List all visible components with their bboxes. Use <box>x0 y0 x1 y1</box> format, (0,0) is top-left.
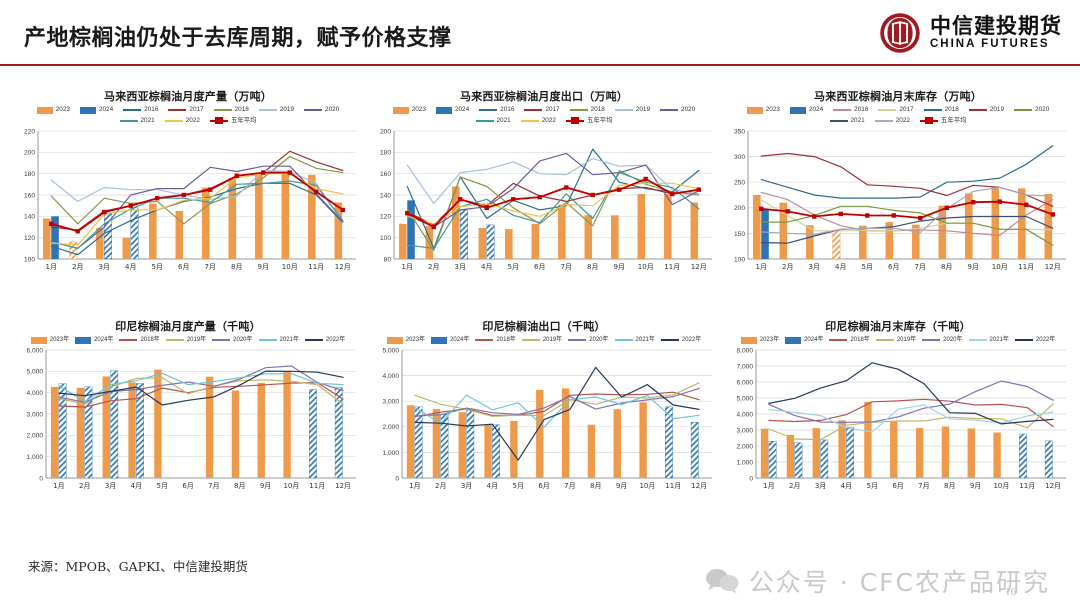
x-tick-5月: 5月 <box>862 263 873 271</box>
legend-swatch <box>790 107 806 114</box>
legend-swatch <box>119 339 137 341</box>
svg-text:4,000: 4,000 <box>26 390 43 397</box>
legend-label: 2022年 <box>1036 336 1055 344</box>
chart-svg: 01,0002,0003,0004,0005,0006,0007,0008,00… <box>722 344 1074 494</box>
legend-item-2018: 2018 <box>570 106 605 115</box>
svg-text:220: 220 <box>24 129 35 136</box>
svg-text:0: 0 <box>749 475 753 482</box>
bar-2023-1月 <box>399 224 407 259</box>
marker-五年平均 <box>918 216 922 220</box>
x-tick-5月: 5月 <box>157 482 168 490</box>
chart-title: 印尼棕榈油月末库存（千吨） <box>722 318 1074 334</box>
svg-text:100: 100 <box>24 257 35 264</box>
legend-label: 2021 <box>851 117 865 126</box>
line-2019 <box>761 154 1053 207</box>
x-tick-11月: 11月 <box>1019 482 1035 490</box>
x-tick-2月: 2月 <box>435 482 446 490</box>
header-divider <box>0 64 1080 66</box>
legend-label: 2021 <box>141 117 155 126</box>
bar-2023年-10月 <box>993 433 1000 478</box>
legend-swatch <box>479 109 497 111</box>
bar-2023-5月 <box>505 229 513 259</box>
marker-五年平均 <box>538 195 542 199</box>
bar-hatched-12月 <box>691 422 698 478</box>
marker-五年平均 <box>405 211 409 215</box>
chart-svg: 1001201401601802002201月2月3月4月5月6月7月8月9月1… <box>12 125 364 275</box>
bar-hatched-2月 <box>795 443 802 478</box>
x-tick-9月: 9月 <box>968 263 979 271</box>
chart-plot: 1001201401601802002201月2月3月4月5月6月7月8月9月1… <box>12 125 364 275</box>
legend-label: 2022 <box>542 117 556 126</box>
bar-2023-11月 <box>664 194 672 259</box>
svg-text:5,000: 5,000 <box>26 369 43 376</box>
x-tick-4月: 4月 <box>487 482 498 490</box>
marker-五年平均 <box>235 174 239 178</box>
legend-item-2022: 2022 <box>875 117 910 126</box>
legend-label: 2024 <box>809 106 823 115</box>
x-tick-1月: 1月 <box>46 263 57 271</box>
bar-hatched-1月 <box>769 441 776 478</box>
legend-swatch <box>924 109 942 111</box>
svg-text:2,000: 2,000 <box>736 443 753 450</box>
legend-label: 2017 <box>899 106 913 115</box>
legend-item-2024: 2024 <box>436 106 469 115</box>
legend-item-2021年: 2021年 <box>259 336 299 344</box>
legend-swatch <box>304 109 322 111</box>
x-tick-1月: 1月 <box>402 263 413 271</box>
legend-swatch <box>615 339 633 341</box>
legend-swatch <box>833 109 851 111</box>
bar-2023年-3月 <box>459 412 466 478</box>
x-tick-9月: 9月 <box>260 482 271 490</box>
chart-plot: 01,0002,0003,0004,0005,0006,0007,0008,00… <box>722 344 1074 494</box>
legend-swatch <box>165 120 183 122</box>
line-2020年 <box>415 388 699 416</box>
page-number: 16 <box>1005 586 1016 598</box>
x-tick-1月: 1月 <box>756 263 767 271</box>
marker-五年平均 <box>865 214 869 218</box>
bar-2024-1月 <box>407 201 415 260</box>
legend-item-2023年: 2023年 <box>741 336 779 344</box>
legend-swatch <box>615 109 633 111</box>
legend-item-2018年: 2018年 <box>119 336 159 344</box>
x-tick-7月: 7月 <box>561 263 572 271</box>
svg-text:0: 0 <box>39 475 43 482</box>
legend-item-2024年: 2024年 <box>431 336 469 344</box>
legend-item-2018年: 2018年 <box>829 336 869 344</box>
marker-五年平均 <box>288 171 292 175</box>
x-tick-12月: 12月 <box>335 482 351 490</box>
page-header: 产地棕榈油仍处于去库周期，赋予价格支撑 中信建投期货 CHINA FUTURES <box>0 0 1080 66</box>
chart-title: 印尼棕榈油月度产量（千吨） <box>12 318 364 334</box>
legend-swatch <box>524 109 542 111</box>
legend-label: 2019 <box>280 106 294 115</box>
x-tick-7月: 7月 <box>208 482 219 490</box>
legend-label: 2024 <box>455 106 469 115</box>
x-tick-1月: 1月 <box>53 482 64 490</box>
legend-label: 2024 <box>99 106 113 115</box>
chart-title: 马来西亚棕榈油月度产量（万吨） <box>12 88 364 104</box>
x-tick-12月: 12月 <box>1045 263 1061 271</box>
bar-2024-1月 <box>761 209 769 259</box>
x-tick-4月: 4月 <box>481 263 492 271</box>
line-2019年 <box>415 383 699 417</box>
legend-label: 2023 <box>766 106 780 115</box>
marker-五年平均 <box>155 196 159 200</box>
legend-swatch <box>660 109 678 111</box>
citic-logo-icon <box>879 12 921 54</box>
line-2021年 <box>769 405 1053 432</box>
svg-text:120: 120 <box>380 214 391 221</box>
marker-五年平均 <box>314 190 318 194</box>
legend-swatch <box>393 107 409 114</box>
bar-hatched-3月 <box>460 210 468 259</box>
legend-label: 2016 <box>854 106 868 115</box>
legend-item-2016: 2016 <box>833 106 868 115</box>
line-2019 <box>407 159 699 204</box>
logo-chinese-name: 中信建投期货 <box>930 15 1062 36</box>
x-tick-4月: 4月 <box>841 482 852 490</box>
legend-label: 2020年 <box>589 336 608 344</box>
bar-2023年-6月 <box>890 421 897 478</box>
marker-五年平均 <box>564 186 568 190</box>
logo-text: 中信建投期货 CHINA FUTURES <box>930 15 1062 51</box>
legend-label: 2020 <box>1035 106 1049 115</box>
legend-label: 2018年 <box>850 336 869 344</box>
bar-hatched-3月 <box>467 409 474 478</box>
legend-item-2022年: 2022年 <box>661 336 701 344</box>
line-五年平均 <box>51 173 343 232</box>
bar-2023-10月 <box>282 173 290 259</box>
x-tick-8月: 8月 <box>587 263 598 271</box>
x-tick-8月: 8月 <box>941 263 952 271</box>
svg-text:180: 180 <box>380 150 391 157</box>
x-tick-6月: 6月 <box>178 263 189 271</box>
legend-item-2017: 2017 <box>168 106 203 115</box>
legend-item-2023: 2023 <box>393 106 426 115</box>
svg-text:2,000: 2,000 <box>382 424 399 431</box>
x-tick-2月: 2月 <box>72 263 83 271</box>
bar-2023-10月 <box>992 187 1000 259</box>
legend-label: 2022 <box>896 117 910 126</box>
x-tick-6月: 6月 <box>182 482 193 490</box>
chart-title: 马来西亚棕榈油月末库存（万吨） <box>722 88 1074 104</box>
legend-item-2021: 2021 <box>830 117 865 126</box>
bar-2023-12月 <box>691 203 699 260</box>
x-tick-5月: 5月 <box>508 263 519 271</box>
svg-text:350: 350 <box>734 129 745 136</box>
legend-swatch <box>568 339 586 341</box>
x-tick-6月: 6月 <box>534 263 545 271</box>
legend-label: 2021年 <box>280 336 299 344</box>
charts-grid: 马来西亚棕榈油月度产量（万吨） 202320242016201720182019… <box>0 78 1080 548</box>
legend-label: 2021年 <box>990 336 1009 344</box>
svg-text:2,000: 2,000 <box>26 433 43 440</box>
x-tick-4月: 4月 <box>131 482 142 490</box>
x-tick-5月: 5月 <box>867 482 878 490</box>
marker-五年平均 <box>129 204 133 208</box>
bar-2023-10月 <box>638 194 646 259</box>
line-2020年 <box>769 381 1053 422</box>
legend-label: 2019年 <box>187 336 206 344</box>
legend-swatch <box>120 120 138 122</box>
legend-swatch <box>969 109 987 111</box>
legend-swatch <box>920 117 938 125</box>
legend-label: 2023年 <box>760 336 779 344</box>
x-tick-2月: 2月 <box>782 263 793 271</box>
x-tick-8月: 8月 <box>231 263 242 271</box>
source-note: 来源：MPOB、GAPKI、中信建投期货 <box>28 556 248 575</box>
logo-english-name: CHINA FUTURES <box>930 39 1062 51</box>
bar-hatched-4月 <box>846 427 853 478</box>
line-2022 <box>761 188 1053 235</box>
bar-hatched-11月 <box>309 390 316 479</box>
x-tick-12月: 12月 <box>1045 482 1061 490</box>
x-tick-8月: 8月 <box>590 482 601 490</box>
legend-label: 2020年 <box>233 336 252 344</box>
legend-item-2020年: 2020年 <box>212 336 252 344</box>
legend-item-2019: 2019 <box>615 106 650 115</box>
legend-label: 2017 <box>189 106 203 115</box>
legend-item-2023: 2023 <box>37 106 70 115</box>
chart-legend: 2023年2024年2018年2019年2020年2021年2022年 <box>12 336 364 344</box>
chart-my-export: 马来西亚棕榈油月度出口（万吨） 202320242016201720182019… <box>368 88 720 320</box>
legend-swatch <box>259 109 277 111</box>
x-tick-8月: 8月 <box>944 482 955 490</box>
x-tick-10月: 10月 <box>993 482 1009 490</box>
x-tick-6月: 6月 <box>888 263 899 271</box>
legend-label: 2018 <box>591 106 605 115</box>
chart-plot: 1001502002503003501月2月3月4月5月6月7月8月9月10月1… <box>722 125 1074 275</box>
chart-plot: 01,0002,0003,0004,0005,0001月2月3月4月5月6月7月… <box>368 344 720 494</box>
x-tick-7月: 7月 <box>205 263 216 271</box>
bar-2023-1月 <box>753 195 761 259</box>
bar-2023年-10月 <box>639 402 646 478</box>
marker-五年平均 <box>458 197 462 201</box>
x-tick-3月: 3月 <box>99 263 110 271</box>
legend-swatch <box>878 109 896 111</box>
x-tick-7月: 7月 <box>915 263 926 271</box>
bar-2023年-8月 <box>232 391 239 478</box>
legend-swatch <box>210 117 228 125</box>
legend-label: 2016 <box>144 106 158 115</box>
svg-text:100: 100 <box>380 235 391 242</box>
legend-label: 五年平均 <box>231 117 257 126</box>
marker-五年平均 <box>591 193 595 197</box>
marker-五年平均 <box>485 206 489 210</box>
bar-2023年-5月 <box>864 402 871 478</box>
x-tick-4月: 4月 <box>125 263 136 271</box>
legend-swatch <box>830 120 848 122</box>
chart-id-stock: 印尼棕榈油月末库存（千吨） 2023年2024年2018年2019年2020年2… <box>722 318 1074 550</box>
legend-item-2024年: 2024年 <box>75 336 113 344</box>
legend-item-2021: 2021 <box>476 117 511 126</box>
legend-item-2024: 2024 <box>790 106 823 115</box>
chart-svg: 801001201401601802001月2月3月4月5月6月7月8月9月10… <box>368 125 720 275</box>
svg-text:5,000: 5,000 <box>382 347 399 354</box>
legend-item-2019年: 2019年 <box>522 336 562 344</box>
x-tick-7月: 7月 <box>564 482 575 490</box>
bar-2023年-9月 <box>258 383 265 478</box>
marker-五年平均 <box>945 206 949 210</box>
bar-2023年-2月 <box>787 435 794 478</box>
legend-swatch <box>475 339 493 341</box>
bar-hatched-4月 <box>487 225 495 259</box>
legend-item-2020: 2020 <box>304 106 339 115</box>
svg-text:120: 120 <box>24 235 35 242</box>
chart-plot: 01,0002,0003,0004,0005,0006,0001月2月3月4月5… <box>12 344 364 494</box>
x-tick-12月: 12月 <box>335 263 351 271</box>
x-tick-10月: 10月 <box>992 263 1008 271</box>
legend-item-2018年: 2018年 <box>475 336 515 344</box>
legend-label: 2019年 <box>897 336 916 344</box>
svg-text:200: 200 <box>24 150 35 157</box>
bar-2023年-7月 <box>206 377 213 478</box>
legend-item-2022年: 2022年 <box>305 336 345 344</box>
x-tick-2月: 2月 <box>428 263 439 271</box>
legend-swatch <box>75 337 91 344</box>
legend-item-2016: 2016 <box>123 106 158 115</box>
svg-text:3,000: 3,000 <box>736 427 753 434</box>
svg-text:1,000: 1,000 <box>26 454 43 461</box>
legend-item-2020: 2020 <box>1014 106 1049 115</box>
bar-2023-4月 <box>123 238 131 259</box>
svg-text:6,000: 6,000 <box>736 379 753 386</box>
bar-2023年-4月 <box>128 383 135 479</box>
wechat-account: 公众号 · CFC农产品研究 <box>705 563 1050 599</box>
marker-五年平均 <box>998 200 1002 204</box>
bar-hatched-4月 <box>833 231 841 260</box>
legend-swatch <box>80 107 96 114</box>
bar-2023年-10月 <box>283 372 290 478</box>
legend-label: 2024年 <box>450 336 469 344</box>
legend-item-2024年: 2024年 <box>785 336 823 344</box>
legend-item-2021年: 2021年 <box>615 336 655 344</box>
legend-label: 2022年 <box>682 336 701 344</box>
x-tick-3月: 3月 <box>815 482 826 490</box>
legend-label: 2019 <box>636 106 650 115</box>
legend-swatch <box>212 339 230 341</box>
bar-hatched-12月 <box>1045 441 1052 478</box>
legend-label: 2016 <box>500 106 514 115</box>
legend-item-2020年: 2020年 <box>568 336 608 344</box>
legend-swatch <box>436 107 452 114</box>
chart-title: 印尼棕榈油出口（千吨） <box>368 318 720 334</box>
svg-text:3,000: 3,000 <box>382 399 399 406</box>
legend-swatch <box>522 339 540 341</box>
svg-text:180: 180 <box>24 171 35 178</box>
svg-text:7,000: 7,000 <box>736 363 753 370</box>
chart-my-stock: 马来西亚棕榈油月末库存（万吨） 202320242016201720182019… <box>722 88 1074 320</box>
x-tick-3月: 3月 <box>809 263 820 271</box>
legend-swatch <box>969 339 987 341</box>
legend-item-五年平均: 五年平均 <box>210 117 257 126</box>
chart-legend: 202320242016201720182019202020212022五年平均 <box>722 106 1074 125</box>
legend-item-2022: 2022 <box>165 117 200 126</box>
chart-legend: 2023年2024年2018年2019年2020年2021年2022年 <box>368 336 720 344</box>
bar-2023年-5月 <box>510 421 517 478</box>
line-2018 <box>51 157 343 224</box>
bar-2023年-8月 <box>942 427 949 479</box>
legend-label: 五年平均 <box>587 117 613 126</box>
legend-swatch <box>829 339 847 341</box>
legend-label: 2018年 <box>496 336 515 344</box>
bar-2023-6月 <box>532 224 540 259</box>
legend-swatch <box>661 339 679 341</box>
x-tick-10月: 10月 <box>639 482 655 490</box>
legend-label: 2020 <box>325 106 339 115</box>
svg-text:5,000: 5,000 <box>736 395 753 402</box>
svg-text:150: 150 <box>734 231 745 238</box>
bar-2023-4月 <box>479 228 487 259</box>
x-tick-11月: 11月 <box>1018 263 1034 271</box>
x-tick-12月: 12月 <box>691 482 707 490</box>
legend-label: 2019年 <box>543 336 562 344</box>
legend-item-2020: 2020 <box>660 106 695 115</box>
chart-svg: 01,0002,0003,0004,0005,0006,0001月2月3月4月5… <box>12 344 364 494</box>
x-tick-3月: 3月 <box>455 263 466 271</box>
legend-swatch <box>876 339 894 341</box>
bar-hatched-11月 <box>1019 434 1026 478</box>
legend-item-2017: 2017 <box>524 106 559 115</box>
marker-五年平均 <box>644 177 648 181</box>
legend-swatch <box>741 337 757 344</box>
legend-label: 2024年 <box>804 336 823 344</box>
line-2021年 <box>59 373 343 402</box>
svg-text:3,000: 3,000 <box>26 411 43 418</box>
bar-2023年-1月 <box>51 387 58 478</box>
chart-id-export: 印尼棕榈油出口（千吨） 2023年2024年2018年2019年2020年202… <box>368 318 720 550</box>
legend-swatch <box>1014 109 1032 111</box>
legend-label: 2020年 <box>943 336 962 344</box>
x-tick-9月: 9月 <box>258 263 269 271</box>
x-tick-5月: 5月 <box>152 263 163 271</box>
legend-swatch <box>214 109 232 111</box>
chart-legend: 2023年2024年2018年2019年2020年2021年2022年 <box>722 336 1074 344</box>
legend-item-2020年: 2020年 <box>922 336 962 344</box>
bar-hatched-3月 <box>821 440 828 478</box>
svg-text:1,000: 1,000 <box>736 459 753 466</box>
marker-五年平均 <box>49 222 53 226</box>
bar-2023年-1月 <box>761 429 768 478</box>
legend-swatch <box>387 337 403 344</box>
marker-五年平均 <box>432 225 436 229</box>
marker-五年平均 <box>670 192 674 196</box>
x-tick-4月: 4月 <box>835 263 846 271</box>
legend-swatch <box>123 109 141 111</box>
legend-swatch <box>747 107 763 114</box>
legend-label: 2018年 <box>140 336 159 344</box>
marker-五年平均 <box>697 188 701 192</box>
legend-item-2021年: 2021年 <box>969 336 1009 344</box>
legend-item-2016: 2016 <box>479 106 514 115</box>
legend-item-2022: 2022 <box>521 117 556 126</box>
legend-item-2022年: 2022年 <box>1015 336 1055 344</box>
page-title: 产地棕榈油仍处于去库周期，赋予价格支撑 <box>24 20 452 52</box>
legend-swatch <box>305 339 323 341</box>
legend-label: 2021年 <box>636 336 655 344</box>
legend-item-2024: 2024 <box>80 106 113 115</box>
line-2021 <box>51 181 343 248</box>
svg-text:160: 160 <box>24 193 35 200</box>
legend-swatch <box>168 109 186 111</box>
bar-2023年-9月 <box>614 409 621 478</box>
legend-item-五年平均: 五年平均 <box>566 117 613 126</box>
legend-swatch <box>875 120 893 122</box>
legend-label: 2019 <box>990 106 1004 115</box>
bar-hatched-1月 <box>415 407 422 478</box>
legend-label: 五年平均 <box>941 117 967 126</box>
